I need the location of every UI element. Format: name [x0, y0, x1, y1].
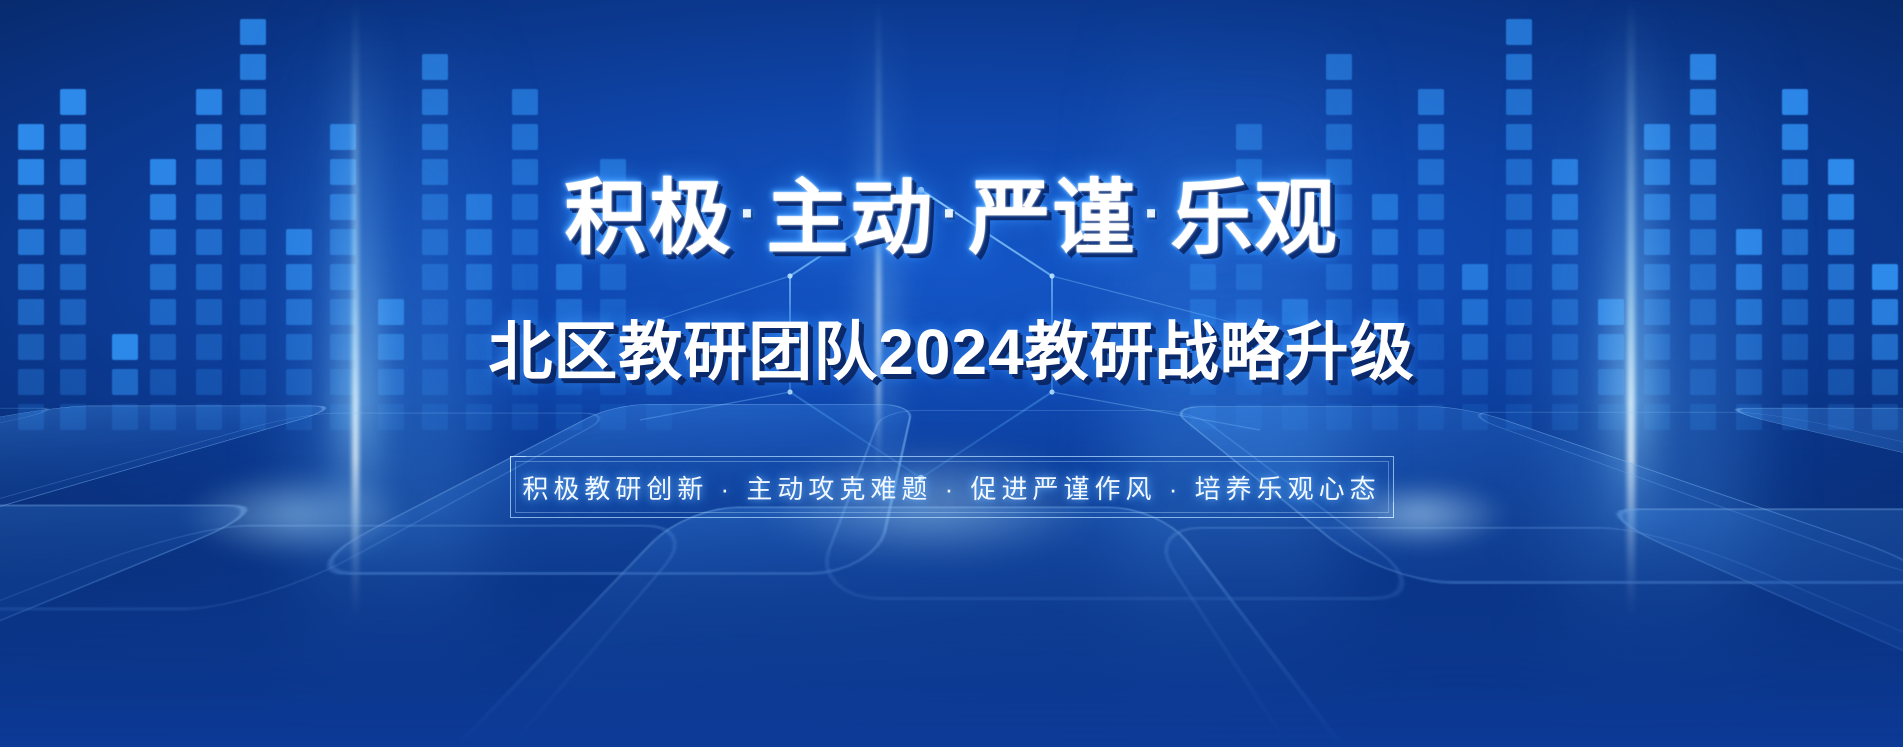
slogan-text: 积极教研创新 · 主动攻克难题 · 促进严谨作风 · 培养乐观心态: [510, 456, 1394, 518]
title-separator-icon: ·: [732, 185, 766, 241]
banner-subtitle: 北区教研团队2024教研战略升级: [0, 320, 1903, 384]
title-word-2: 主动: [766, 173, 934, 264]
banner-content: 积极·主动·严谨·乐观 北区教研团队2024教研战略升级 积极教研创新 · 主动…: [0, 0, 1903, 747]
event-banner: 积极·主动·严谨·乐观 北区教研团队2024教研战略升级 积极教研创新 · 主动…: [0, 0, 1903, 747]
banner-title: 积极·主动·严谨·乐观: [0, 178, 1903, 260]
title-word-3: 严谨: [969, 173, 1137, 264]
title-separator-icon: ·: [935, 185, 969, 241]
slogan-bar: 积极教研创新 · 主动攻克难题 · 促进严谨作风 · 培养乐观心态: [510, 456, 1394, 518]
title-separator-icon: ·: [1137, 185, 1171, 241]
title-word-1: 积极: [564, 173, 732, 264]
title-word-4: 乐观: [1171, 173, 1339, 264]
